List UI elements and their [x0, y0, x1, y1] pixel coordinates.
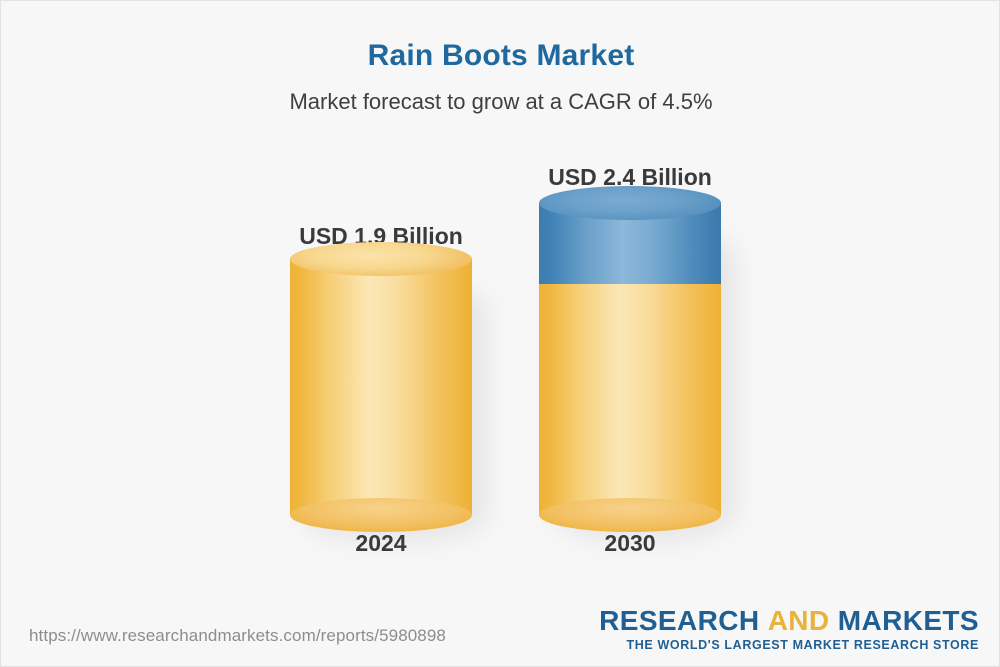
bar-segment-base-2030 — [539, 284, 721, 515]
cylinder-top-ellipse — [539, 186, 721, 220]
chart-footer: https://www.researchandmarkets.com/repor… — [1, 596, 1000, 666]
cylinder-bottom-ellipse — [290, 498, 472, 532]
brand-name: RESEARCH AND MARKETS — [599, 606, 979, 635]
cylinder-body — [539, 284, 721, 515]
cylinder-top-ellipse — [290, 242, 472, 276]
cylinder-2030 — [539, 203, 721, 515]
brand-logo[interactable]: RESEARCH AND MARKETS THE WORLD'S LARGEST… — [599, 606, 979, 652]
brand-word-and: AND — [768, 605, 830, 636]
brand-tagline: THE WORLD'S LARGEST MARKET RESEARCH STOR… — [599, 638, 979, 652]
brand-word-research: RESEARCH — [599, 605, 759, 636]
cylinder-bottom-ellipse — [539, 498, 721, 532]
cylinder-2024 — [290, 259, 472, 515]
bar-segment-base-2024 — [290, 259, 472, 515]
source-url-link[interactable]: https://www.researchandmarkets.com/repor… — [29, 626, 446, 646]
market-forecast-infographic: Rain Boots Market Market forecast to gro… — [0, 0, 1000, 667]
chart-plot-area: USD 1.9 Billion 2024 USD 2.4 Billion — [1, 1, 1000, 667]
brand-word-markets: MARKETS — [838, 605, 979, 636]
category-label-2030: 2030 — [479, 530, 781, 557]
bar-segment-growth-2030 — [539, 203, 721, 284]
cylinder-body — [290, 259, 472, 515]
